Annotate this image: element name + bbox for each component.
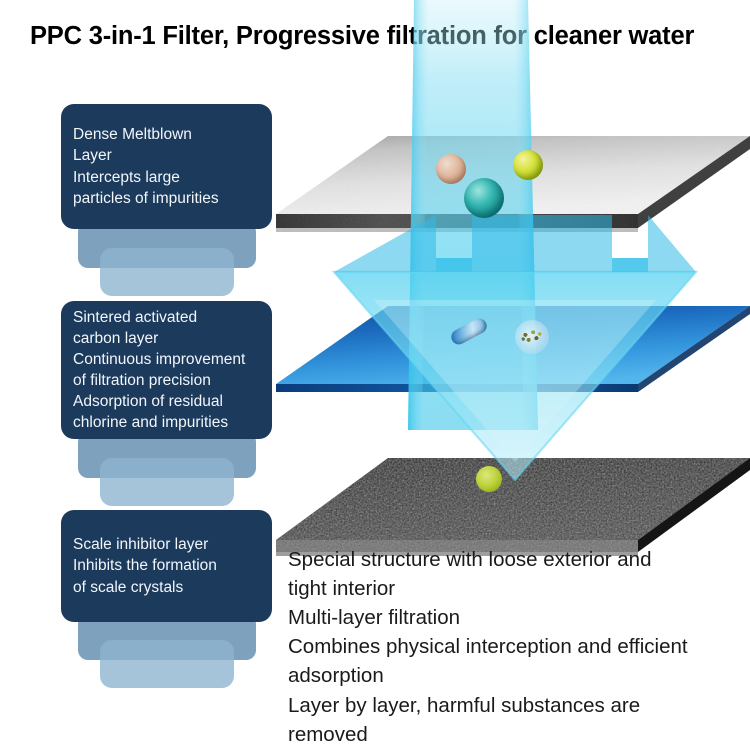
- infographic-page: PPC 3-in-1 Filter, Progressive filtratio…: [0, 0, 750, 750]
- meltblown-slab-graphic: [276, 132, 750, 244]
- yellow-green-particle: [513, 150, 543, 180]
- callout-text: Scale inhibitor layer Inhibits the forma…: [73, 534, 217, 597]
- connector-stack-3: [56, 614, 274, 706]
- tan-cluster-particle: [436, 154, 466, 184]
- filter-layer-stage: [276, 60, 750, 540]
- callout-text: Dense Meltblown Layer Intercepts large p…: [73, 124, 219, 208]
- summary-paragraph: Special structure with loose exterior an…: [288, 545, 743, 749]
- layer-meltblown-slab: [276, 132, 750, 244]
- layer-activated-carbon-slab: [276, 300, 750, 412]
- connector-narrow-bar: [100, 640, 234, 688]
- callout-box-sintered-activated-carbon-layer: Sintered activated carbon layer Continuo…: [61, 301, 272, 439]
- speckled-particle: [515, 320, 549, 354]
- callout-box-dense-meltblown-layer: Dense Meltblown Layer Intercepts large p…: [61, 104, 272, 229]
- teal-particle: [464, 178, 504, 218]
- connector-narrow-bar: [100, 458, 234, 506]
- carbon-slab-graphic: [276, 300, 750, 412]
- connector-narrow-bar: [100, 248, 234, 296]
- callout-box-scale-inhibitor-layer: Scale inhibitor layer Inhibits the forma…: [61, 510, 272, 622]
- page-title: PPC 3-in-1 Filter, Progressive filtratio…: [30, 22, 730, 51]
- callout-column: Dense Meltblown Layer Intercepts large p…: [56, 96, 274, 706]
- callout-text: Sintered activated carbon layer Continuo…: [73, 307, 245, 433]
- small-green-particle: [476, 466, 502, 492]
